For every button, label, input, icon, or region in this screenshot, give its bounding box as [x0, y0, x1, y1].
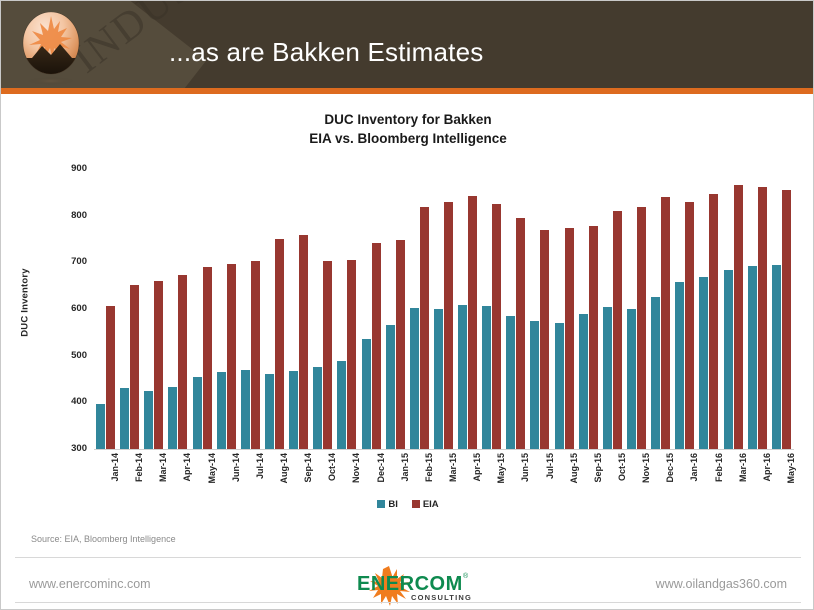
bar-bi [458, 305, 467, 449]
x-axis-tick-label: Nov-15 [641, 453, 651, 483]
bar-bi [386, 325, 395, 449]
x-axis-tick-label: Jan-16 [689, 453, 699, 482]
y-axis-title: DUC Inventory [20, 255, 31, 351]
bar-eia [685, 202, 694, 449]
x-axis-line [94, 449, 794, 450]
bar-bi [434, 309, 443, 449]
legend-label: EIA [423, 499, 439, 510]
bar-eia [613, 211, 622, 449]
bar-bi [289, 371, 298, 449]
x-axis-tick-label: Sep-15 [593, 453, 603, 483]
bar-eia [275, 239, 284, 449]
bar-eia [420, 207, 429, 449]
bar-bi [410, 308, 419, 449]
bar-group: Aug-14 [263, 169, 287, 449]
bar-eia [565, 228, 574, 449]
legend-item-eia[interactable]: EIA [412, 499, 439, 510]
bar-eia [154, 281, 163, 449]
bar-bi [482, 306, 491, 449]
x-axis-tick-label: May-16 [786, 453, 796, 484]
bar-eia [203, 267, 212, 449]
bar-group: Jan-15 [384, 169, 408, 449]
y-axis-tick-500: 500 [53, 350, 87, 361]
x-axis-tick-label: Jan-15 [400, 453, 410, 482]
bar-bi [675, 282, 684, 449]
bar-eia [709, 194, 718, 449]
bar-group: May-14 [191, 169, 215, 449]
bar-eia [251, 261, 260, 449]
bar-bi [530, 321, 539, 449]
bar-bi [555, 323, 564, 449]
chart-legend: BIEIA [1, 499, 814, 510]
bar-bi [651, 297, 660, 449]
bar-bi [362, 339, 371, 449]
header-orange-rule [1, 88, 814, 94]
x-axis-tick-label: Jun-14 [231, 453, 241, 482]
bar-eia [299, 235, 308, 449]
x-axis-tick-label: Jul-14 [255, 453, 265, 479]
bar-eia [492, 204, 501, 449]
svg-text:®: ® [463, 572, 469, 580]
bar-bi [313, 367, 322, 449]
bar-eia [637, 207, 646, 449]
bar-group: May-15 [480, 169, 504, 449]
bar-bi [193, 377, 202, 449]
bar-eia [516, 218, 525, 449]
bar-eia [782, 190, 791, 449]
x-axis-tick-label: Sep-14 [303, 453, 313, 483]
bar-eia [468, 196, 477, 449]
bar-group: May-16 [770, 169, 794, 449]
bar-group: Oct-14 [311, 169, 335, 449]
x-axis-tick-label: Mar-15 [448, 453, 458, 482]
x-axis-tick-label: Jun-15 [520, 453, 530, 482]
bar-eia [130, 285, 139, 449]
x-axis-tick-label: May-14 [207, 453, 217, 484]
slide-header: C INDUSTR [1, 1, 814, 88]
chart-container: DUC Inventory for Bakken EIA vs. Bloombe… [1, 101, 814, 526]
bar-group: Jun-14 [215, 169, 239, 449]
bar-group: Feb-16 [697, 169, 721, 449]
bar-bi [724, 270, 733, 449]
bar-group: Mar-14 [142, 169, 166, 449]
bar-group: Jul-15 [528, 169, 552, 449]
bar-eia [347, 260, 356, 449]
bar-eia [323, 261, 332, 449]
bar-bi [120, 388, 129, 449]
bar-bi [217, 372, 226, 449]
x-axis-tick-label: Oct-14 [327, 453, 337, 481]
bar-bi [96, 404, 105, 449]
x-axis-tick-label: Dec-14 [376, 453, 386, 483]
bar-group: Dec-14 [360, 169, 384, 449]
bar-bi [144, 391, 153, 449]
chart-plot-area: DUC Inventory 900800700600500400300 Jan-… [1, 101, 814, 526]
y-axis-tick-300: 300 [53, 443, 87, 454]
x-axis-tick-label: Aug-14 [279, 453, 289, 484]
legend-swatch-bi [377, 500, 385, 508]
x-axis-tick-label: Oct-15 [617, 453, 627, 481]
x-axis-tick-label: Apr-15 [472, 453, 482, 482]
bar-eia [758, 187, 767, 449]
bar-series-group: Jan-14Feb-14Mar-14Apr-14May-14Jun-14Jul-… [94, 169, 794, 449]
x-axis-tick-label: Apr-14 [182, 453, 192, 482]
x-axis-tick-label: Apr-16 [762, 453, 772, 482]
bar-group: Apr-16 [746, 169, 770, 449]
presentation-slide: C INDUSTR [0, 0, 814, 610]
bar-group: Jan-16 [673, 169, 697, 449]
bar-bi [579, 314, 588, 449]
bar-bi [748, 266, 757, 449]
bar-bi [337, 361, 346, 449]
x-axis-tick-label: Dec-15 [665, 453, 675, 483]
y-axis-tick-600: 600 [53, 303, 87, 314]
x-axis-tick-label: May-15 [496, 453, 506, 484]
bar-bi [168, 387, 177, 449]
bar-bi [506, 316, 515, 449]
x-axis-tick-label: Jul-15 [545, 453, 555, 479]
bar-bi [603, 307, 612, 449]
x-axis-tick-label: Feb-15 [424, 453, 434, 482]
svg-text:CONSULTING: CONSULTING [411, 593, 472, 602]
bar-group: Jun-15 [504, 169, 528, 449]
legend-item-bi[interactable]: BI [377, 499, 398, 510]
x-axis-tick-label: Feb-16 [714, 453, 724, 482]
y-axis-tick-700: 700 [53, 256, 87, 267]
slide-title: ...as are Bakken Estimates [169, 37, 483, 68]
bar-bi [699, 277, 708, 449]
bar-eia [178, 275, 187, 449]
bar-group: Feb-14 [118, 169, 142, 449]
bar-group: Aug-15 [553, 169, 577, 449]
bar-group: Jul-14 [239, 169, 263, 449]
bar-group: Oct-15 [601, 169, 625, 449]
bar-eia [540, 230, 549, 449]
legend-swatch-eia [412, 500, 420, 508]
bar-group: Mar-16 [722, 169, 746, 449]
bar-eia [227, 264, 236, 449]
bar-bi [627, 309, 636, 449]
legend-label: BI [388, 499, 398, 510]
bar-eia [661, 197, 670, 449]
bar-eia [372, 243, 381, 449]
bar-group: Sep-14 [287, 169, 311, 449]
footer-link-enercominc[interactable]: www.enercominc.com [29, 577, 151, 591]
bar-group: Nov-15 [625, 169, 649, 449]
enercom-consulting-logo: ENERCOM ® CONSULTING [349, 565, 474, 607]
x-axis-tick-label: Mar-16 [738, 453, 748, 482]
y-axis-tick-800: 800 [53, 210, 87, 221]
svg-text:ENERCOM: ENERCOM [357, 573, 463, 595]
footer-bottom-divider [15, 602, 801, 603]
enercom-sphere-logo [20, 12, 82, 86]
footer-link-oilandgas360[interactable]: www.oilandgas360.com [656, 577, 787, 591]
x-axis-tick-label: Mar-14 [158, 453, 168, 482]
bar-eia [589, 226, 598, 449]
bar-bi [241, 370, 250, 449]
x-axis-tick-label: Aug-15 [569, 453, 579, 484]
y-axis-tick-900: 900 [53, 163, 87, 174]
bar-group: Feb-15 [408, 169, 432, 449]
bar-group: Sep-15 [577, 169, 601, 449]
bar-group: Dec-15 [649, 169, 673, 449]
bar-eia [734, 185, 743, 449]
bar-bi [772, 265, 781, 449]
x-axis-tick-label: Jan-14 [110, 453, 120, 482]
bar-bi [265, 374, 274, 449]
bar-group: Jan-14 [94, 169, 118, 449]
source-note: Source: EIA, Bloomberg Intelligence [31, 534, 176, 544]
x-axis-tick-label: Nov-14 [351, 453, 361, 483]
bar-eia [444, 202, 453, 449]
footer-divider [15, 557, 801, 558]
bar-group: Nov-14 [335, 169, 359, 449]
y-axis-tick-400: 400 [53, 396, 87, 407]
bar-group: Apr-15 [456, 169, 480, 449]
bar-group: Apr-14 [166, 169, 190, 449]
x-axis-tick-label: Feb-14 [134, 453, 144, 482]
bar-group: Mar-15 [432, 169, 456, 449]
bar-eia [106, 306, 115, 449]
bar-eia [396, 240, 405, 449]
